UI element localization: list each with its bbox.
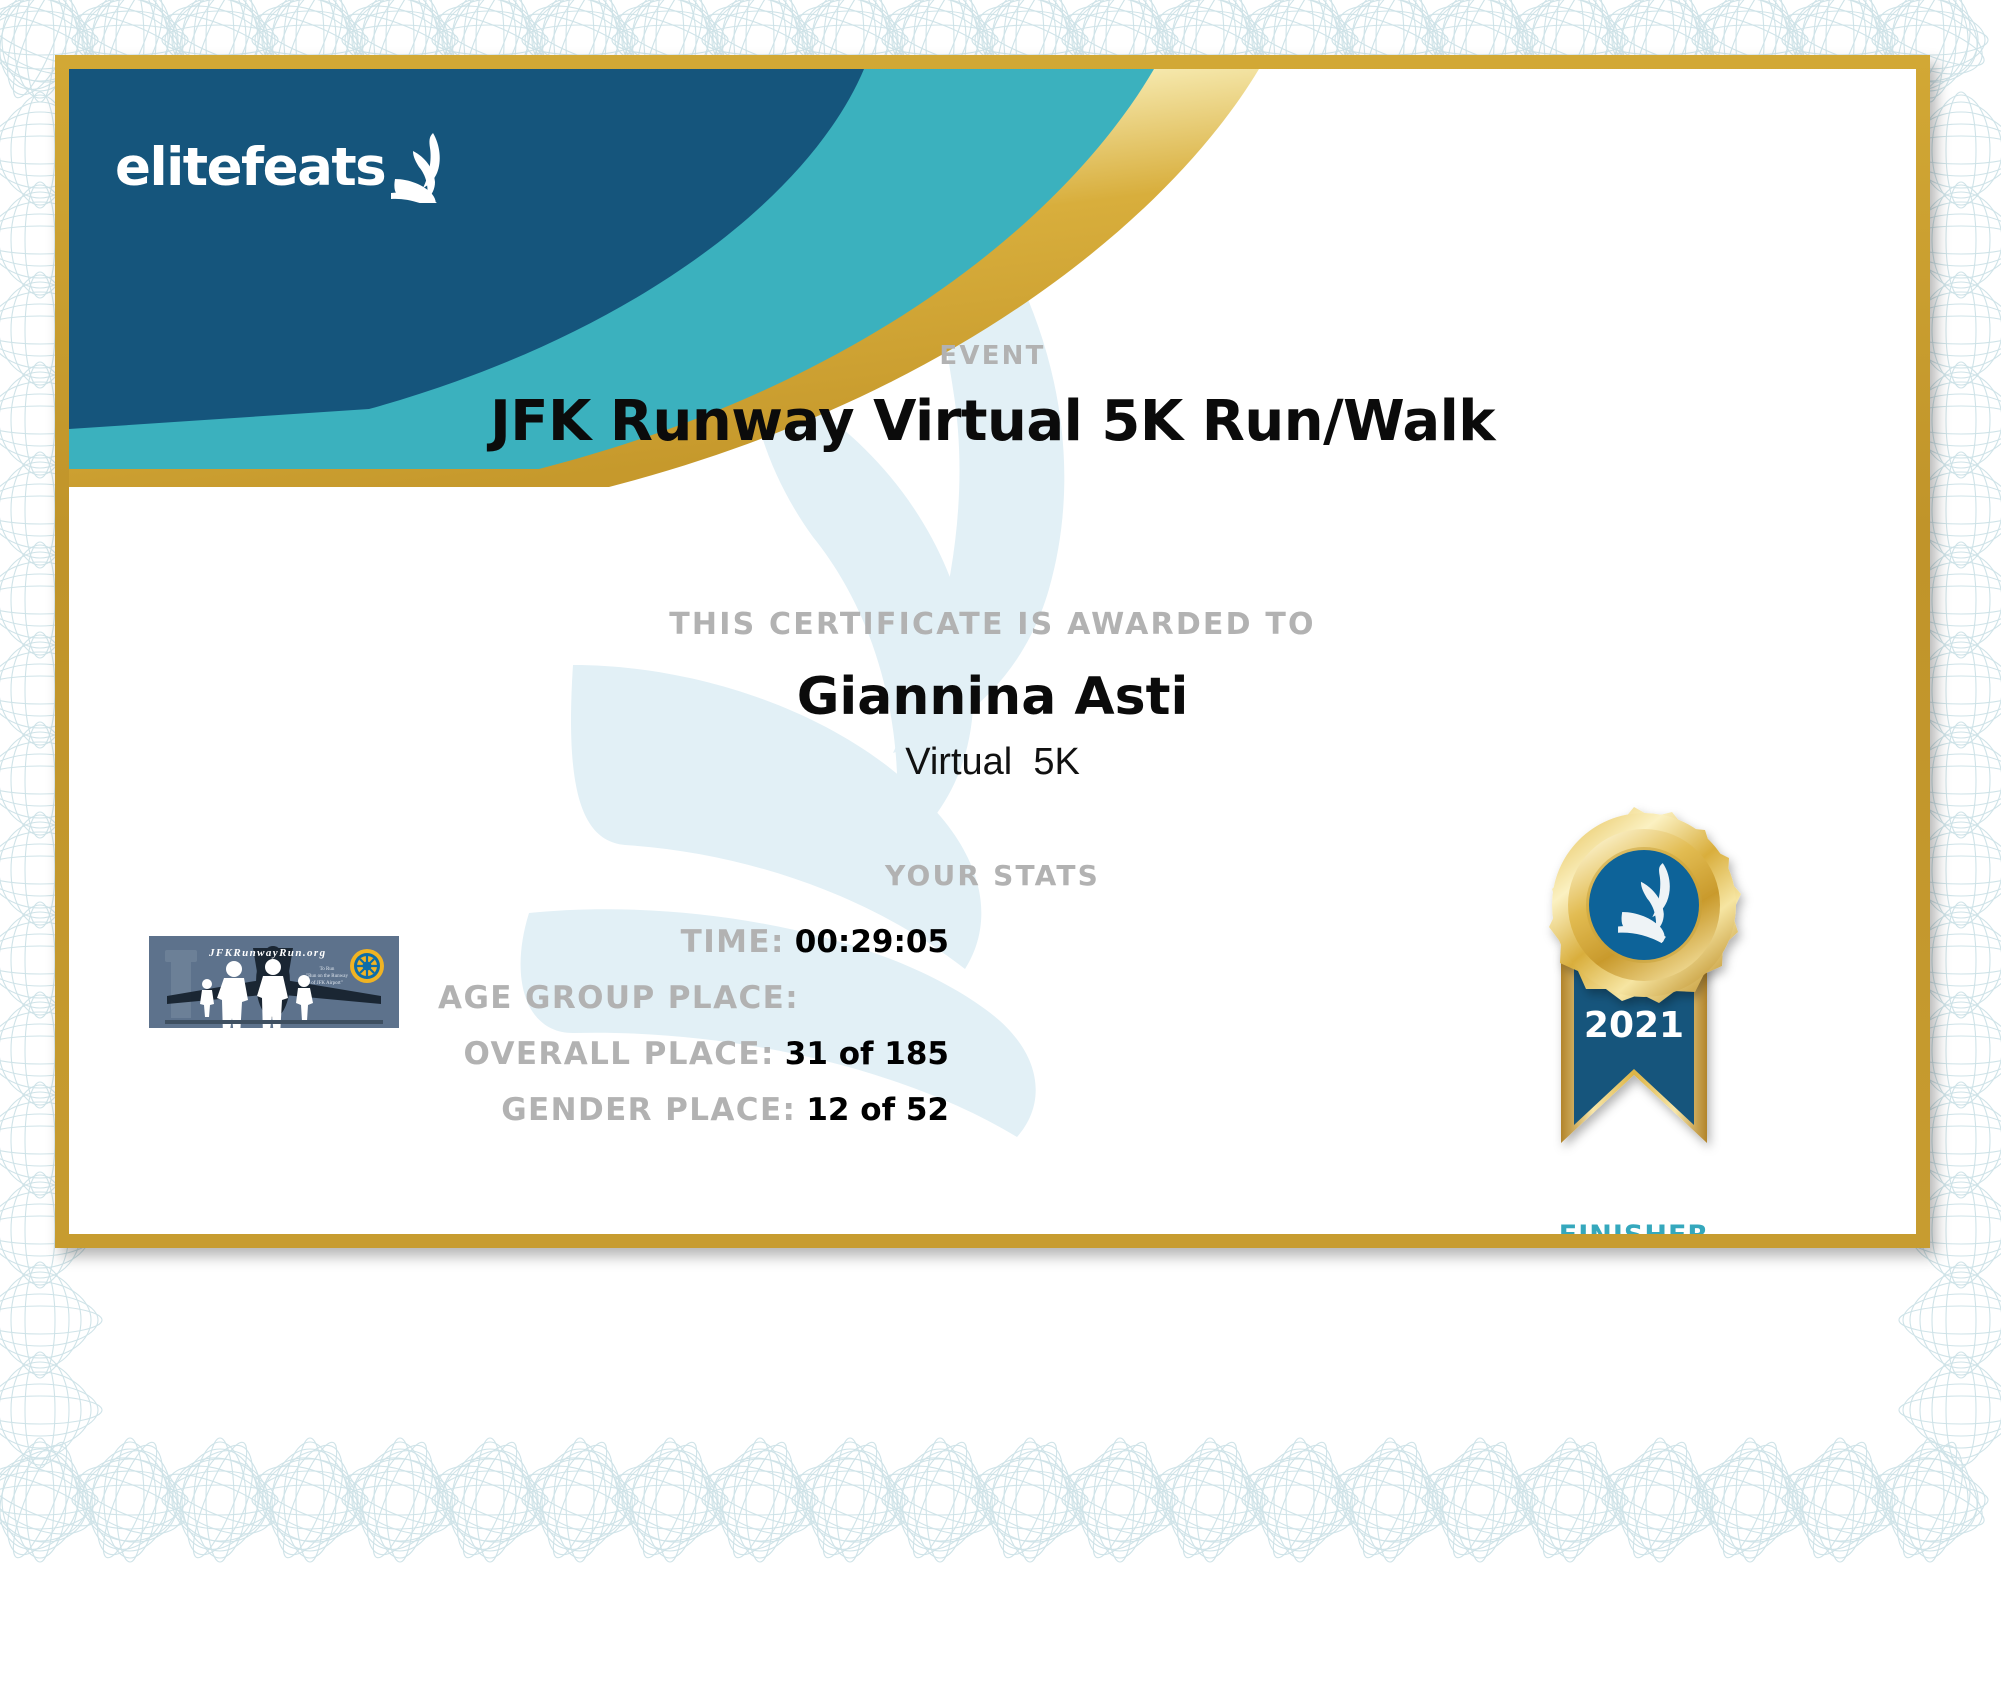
brand-logo: elitefeats bbox=[115, 131, 447, 203]
sponsor-name-text: JFKRunwayRun.org bbox=[208, 947, 326, 959]
stat-label-overall-place: OVERALL PLACE: bbox=[464, 1036, 775, 1072]
finisher-medal: 2021 FINISHER CERTIFICATE bbox=[1489, 795, 1779, 1234]
finisher-caption: FINISHER CERTIFICATE bbox=[1489, 1221, 1779, 1234]
awarded-to-label: THIS CERTIFICATE IS AWARDED TO bbox=[69, 607, 1916, 642]
stat-value-gender-place: 12 of 52 bbox=[806, 1092, 949, 1128]
stat-value-overall-place: 31 of 185 bbox=[785, 1036, 949, 1072]
stat-label-gender-place: GENDER PLACE: bbox=[501, 1092, 796, 1128]
stats-table: TIME: 00:29:05 AGE GROUP PLACE: OVERALL … bbox=[369, 924, 949, 1148]
certificate-card: elitefeats EVENT JFK Runway Virtual 5K R… bbox=[69, 69, 1916, 1234]
stat-row-gender-place: GENDER PLACE: 12 of 52 bbox=[369, 1092, 949, 1148]
stat-label-age-group-place: AGE GROUP PLACE: bbox=[438, 980, 799, 1016]
medal-graphic: 2021 bbox=[1489, 795, 1779, 1215]
stat-row-overall-place: OVERALL PLACE: 31 of 185 bbox=[369, 1036, 949, 1092]
brand-logo-text: elitefeats bbox=[115, 141, 385, 194]
event-label: EVENT bbox=[69, 341, 1916, 371]
stat-row-time: TIME: 00:29:05 bbox=[369, 924, 949, 980]
recipient-name: Giannina Asti bbox=[69, 667, 1916, 727]
rotary-wheel-icon bbox=[350, 949, 384, 983]
sponsor-logo-jfk-runway-run: JFKRunwayRun.org To Run "Run on the Runw… bbox=[149, 936, 399, 1028]
stat-label-time: TIME: bbox=[681, 924, 785, 960]
certificate-gold-frame: elitefeats EVENT JFK Runway Virtual 5K R… bbox=[55, 55, 1930, 1248]
certificate-page: elitefeats EVENT JFK Runway Virtual 5K R… bbox=[0, 0, 2001, 1700]
stat-value-time: 00:29:05 bbox=[795, 924, 949, 960]
winged-foot-icon bbox=[389, 131, 447, 203]
medal-year: 2021 bbox=[1584, 1005, 1684, 1046]
stat-row-age-group-place: AGE GROUP PLACE: bbox=[369, 980, 949, 1036]
svg-text:To Run: To Run bbox=[320, 967, 335, 972]
svg-text:of JFK Airport": of JFK Airport" bbox=[311, 981, 343, 986]
finisher-caption-line1: FINISHER bbox=[1489, 1221, 1779, 1234]
recipient-division: Virtual 5K bbox=[69, 741, 1916, 784]
svg-text:"Run on the Runway: "Run on the Runway bbox=[306, 974, 348, 979]
event-title: JFK Runway Virtual 5K Run/Walk bbox=[69, 389, 1916, 454]
